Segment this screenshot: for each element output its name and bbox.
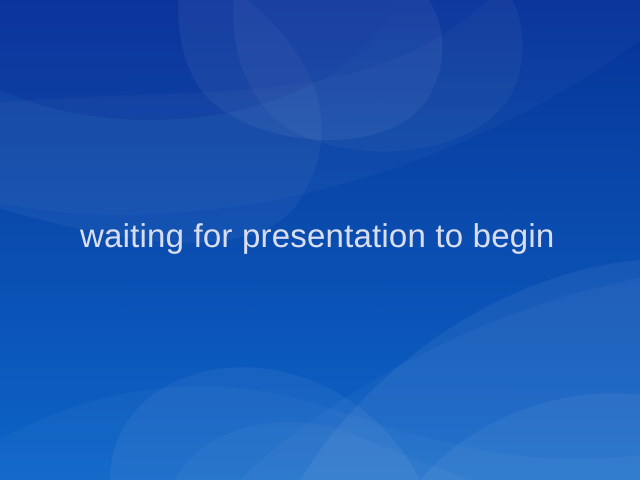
- headline-container: waiting for presentation to begin: [0, 0, 640, 480]
- page-title: waiting for presentation to begin: [0, 218, 554, 262]
- presentation-slide: waiting for presentation to begin: [0, 0, 640, 480]
